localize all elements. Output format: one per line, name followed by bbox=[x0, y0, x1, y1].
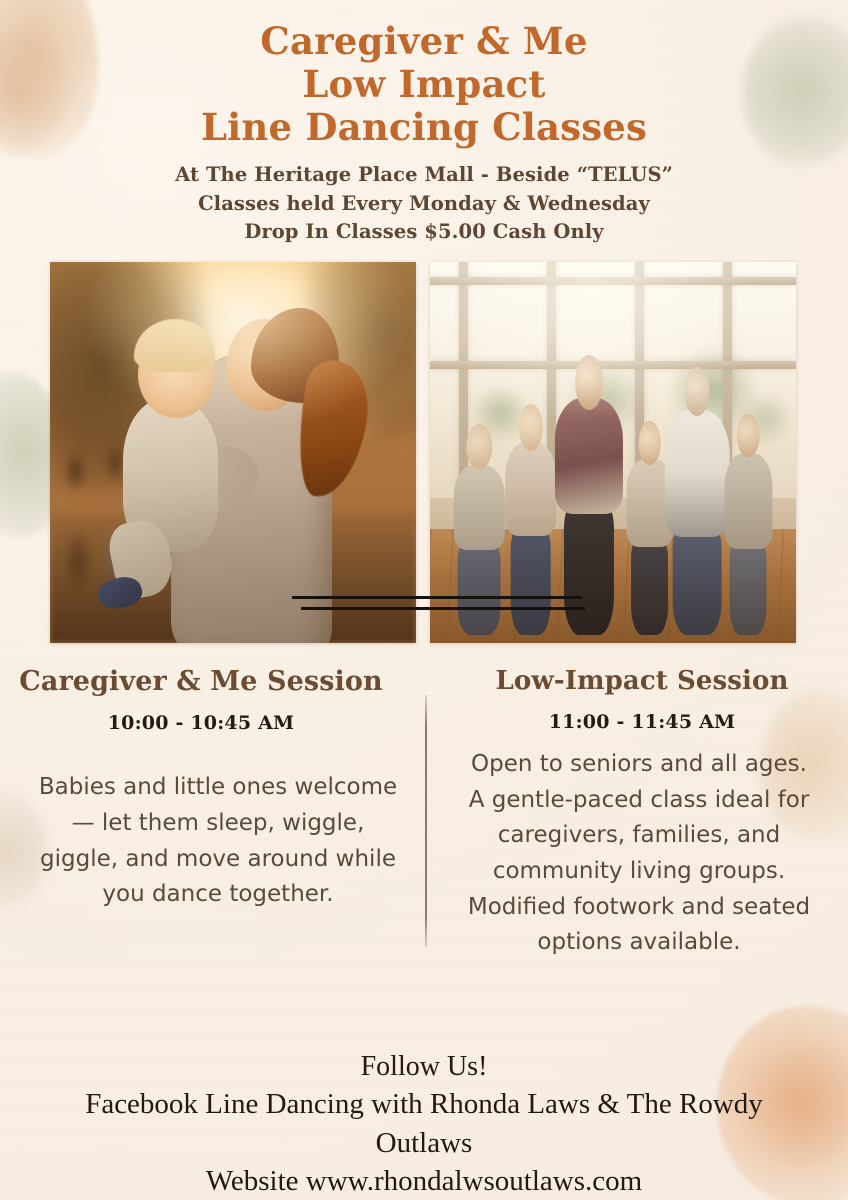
decorative-rule-bottom bbox=[301, 607, 585, 610]
session-title-caregiver: Caregiver & Me Session bbox=[0, 666, 424, 698]
photo-right-light-haze bbox=[430, 262, 796, 643]
decorative-double-rule bbox=[292, 596, 582, 618]
line-dancing-class-photo bbox=[430, 262, 796, 643]
session-column-divider bbox=[425, 695, 427, 947]
photo-row bbox=[50, 262, 796, 643]
headline-line-1: Caregiver & Me bbox=[0, 20, 848, 63]
session-title-low-impact: Low-Impact Session bbox=[424, 666, 848, 697]
footer-follow-us: Follow Us! bbox=[40, 1048, 808, 1085]
poster-subheading: At The Heritage Place Mall - Beside “TEL… bbox=[0, 161, 848, 247]
poster-canvas: Caregiver & Me Low Impact Line Dancing C… bbox=[0, 0, 848, 1200]
session-description-low-impact: Open to seniors and all ages. A gentle-p… bbox=[424, 747, 848, 961]
caregiver-and-baby-photo bbox=[50, 262, 416, 643]
session-time-caregiver: 10:00 - 10:45 AM bbox=[0, 712, 424, 734]
session-time-low-impact: 11:00 - 11:45 AM bbox=[424, 711, 848, 733]
headline-line-2: Low Impact bbox=[0, 63, 848, 106]
session-column-caregiver: Caregiver & Me Session 10:00 - 10:45 AM … bbox=[0, 666, 424, 913]
session-column-low-impact: Low-Impact Session 11:00 - 11:45 AM Open… bbox=[424, 666, 848, 961]
poster-footer: Follow Us! Facebook Line Dancing with Rh… bbox=[40, 1048, 808, 1200]
decorative-rule-top bbox=[292, 596, 582, 599]
subheading-schedule: Classes held Every Monday & Wednesday bbox=[0, 190, 848, 219]
subheading-price: Drop In Classes $5.00 Cash Only bbox=[0, 218, 848, 247]
sessions-section: Caregiver & Me Session 10:00 - 10:45 AM … bbox=[0, 666, 848, 966]
headline-line-3: Line Dancing Classes bbox=[0, 106, 848, 149]
subheading-location: At The Heritage Place Mall - Beside “TEL… bbox=[0, 161, 848, 190]
photo-left-warm-tone bbox=[50, 262, 416, 643]
poster-headline: Caregiver & Me Low Impact Line Dancing C… bbox=[0, 20, 848, 149]
footer-facebook: Facebook Line Dancing with Rhonda Laws &… bbox=[40, 1085, 808, 1162]
footer-website: Website www.rhondalwsoutlaws.com bbox=[40, 1162, 808, 1200]
session-description-caregiver: Babies and little ones welcome — let the… bbox=[0, 770, 424, 913]
